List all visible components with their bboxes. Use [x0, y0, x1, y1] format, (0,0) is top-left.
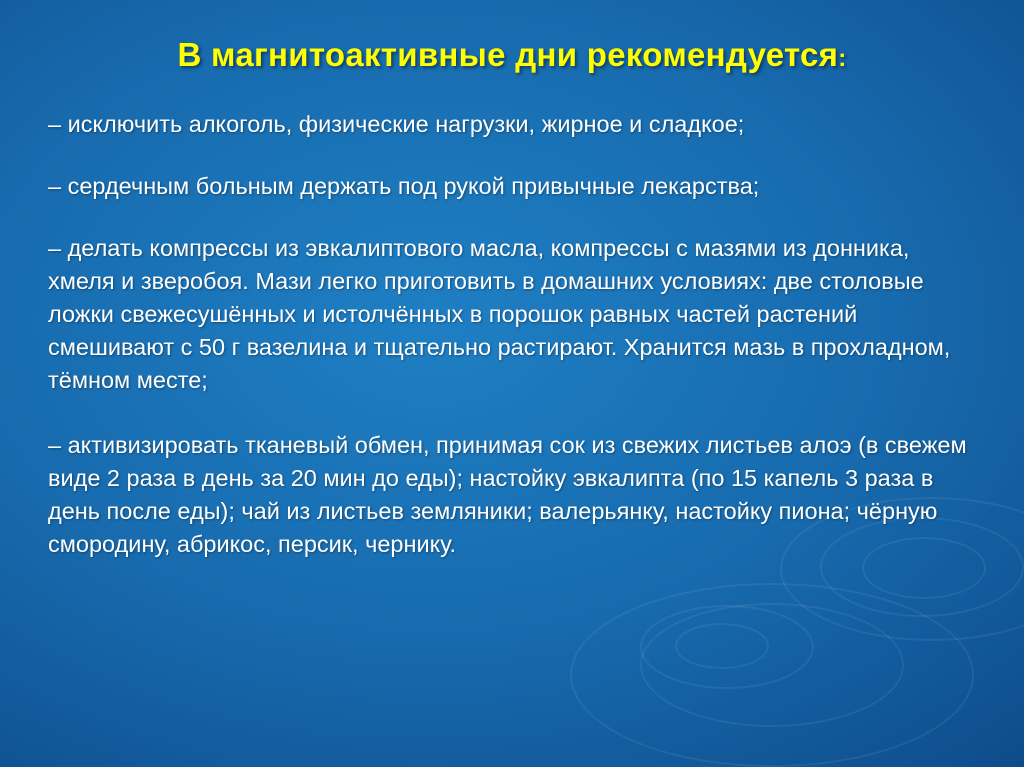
slide-title-text: В магнитоактивные дни рекомендуется — [177, 36, 838, 73]
recommendation-item: – активизировать тканевый обмен, принима… — [48, 429, 968, 561]
recommendation-item: – сердечным больным держать под рукой пр… — [48, 170, 968, 203]
ripple-decoration-icon — [640, 603, 904, 727]
slide-body: – исключить алкоголь, физические нагрузк… — [48, 108, 968, 561]
slide-title-colon: : — [838, 45, 846, 72]
slide-title: В магнитоактивные дни рекомендуется: — [0, 36, 1024, 74]
recommendation-item: – делать компрессы из эвкалиптового масл… — [48, 232, 968, 397]
ripple-decoration-icon — [570, 583, 974, 767]
ripple-decoration-icon — [675, 623, 769, 669]
slide-canvas: В магнитоактивные дни рекомендуется: – и… — [0, 0, 1024, 767]
ripple-decoration-icon — [640, 605, 814, 689]
recommendation-item: – исключить алкоголь, физические нагрузк… — [48, 108, 968, 141]
